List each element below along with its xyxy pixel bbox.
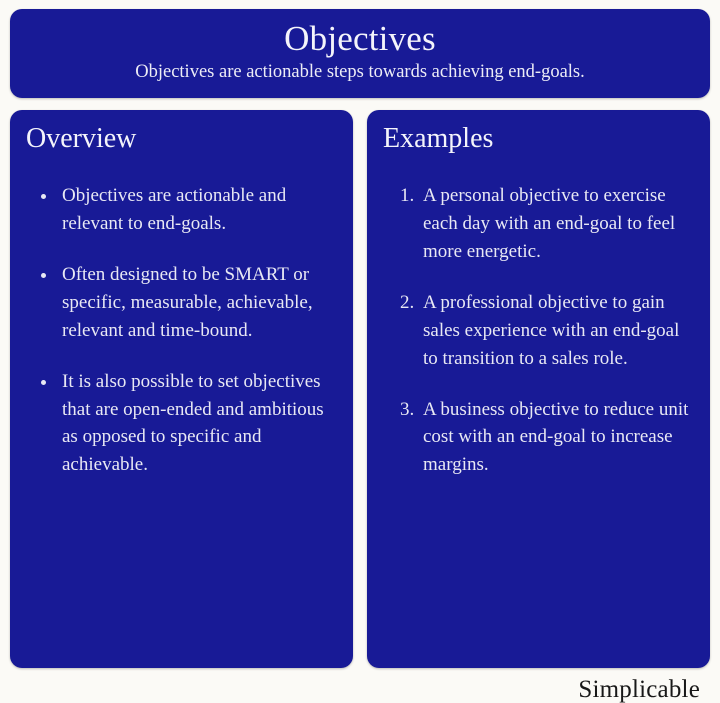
list-item: A professional objective to gain sales e…	[419, 289, 694, 373]
examples-list: A personal objective to exercise each da…	[383, 182, 694, 479]
list-item: A business objective to reduce unit cost…	[419, 396, 694, 480]
examples-heading: Examples	[383, 122, 694, 156]
objectives-infographic: Objectives Objectives are actionable ste…	[0, 0, 720, 703]
examples-panel: Examples A personal objective to exercis…	[367, 110, 710, 667]
list-item: Often designed to be SMART or specific, …	[58, 261, 337, 345]
panels-row: Overview Objectives are actionable and r…	[10, 110, 710, 667]
overview-heading: Overview	[26, 122, 337, 156]
header-card: Objectives Objectives are actionable ste…	[10, 9, 710, 98]
page-subtitle: Objectives are actionable steps towards …	[28, 61, 692, 84]
list-item: Objectives are actionable and relevant t…	[58, 182, 337, 238]
brand-wordmark: Simplicable	[578, 676, 700, 703]
footer: Simplicable	[10, 668, 710, 703]
list-item: It is also possible to set objectives th…	[58, 368, 337, 480]
overview-list: Objectives are actionable and relevant t…	[26, 182, 337, 479]
list-item: A personal objective to exercise each da…	[419, 182, 694, 266]
overview-panel: Overview Objectives are actionable and r…	[10, 110, 353, 667]
page-title: Objectives	[28, 18, 692, 59]
